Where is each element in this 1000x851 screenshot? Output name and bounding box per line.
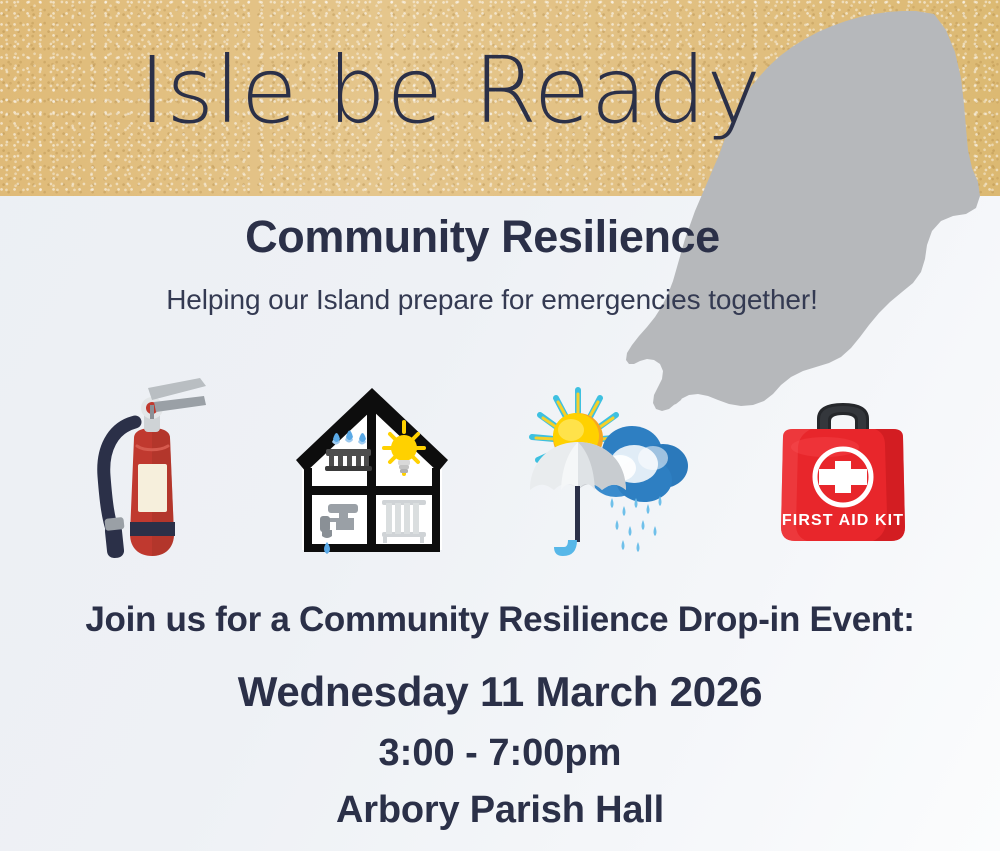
icon-cell-first-aid-kit: FIRST AID KIT: [760, 372, 925, 572]
icon-cell-home-utilities: [292, 372, 452, 572]
first-aid-kit-icon: FIRST AID KIT: [763, 385, 923, 560]
poster-canvas: Isle be Ready Community Resilience Helpi…: [0, 0, 1000, 851]
tagline: Helping our Island prepare for emergenci…: [0, 284, 984, 316]
icon-cell-severe-weather: [520, 372, 695, 572]
event-invite-line: Join us for a Community Resilience Drop-…: [0, 600, 1000, 640]
event-details: Join us for a Community Resilience Drop-…: [0, 600, 1000, 832]
fire-extinguisher-icon: [88, 372, 218, 572]
icon-row: FIRST AID KIT: [0, 372, 1000, 572]
event-time: 3:00 - 7:00pm: [0, 732, 1000, 775]
page-title: Isle be Ready: [0, 42, 900, 140]
first-aid-kit-label: FIRST AID KIT: [781, 512, 903, 529]
rain-drops-icon: [611, 496, 662, 552]
severe-weather-icon: [520, 380, 695, 565]
icon-cell-fire-extinguisher: [78, 372, 228, 572]
home-utilities-icon: [292, 382, 452, 562]
headline: Community Resilience: [0, 211, 965, 263]
event-venue: Arbory Parish Hall: [0, 789, 1000, 832]
event-date: Wednesday 11 March 2026: [0, 668, 1000, 716]
